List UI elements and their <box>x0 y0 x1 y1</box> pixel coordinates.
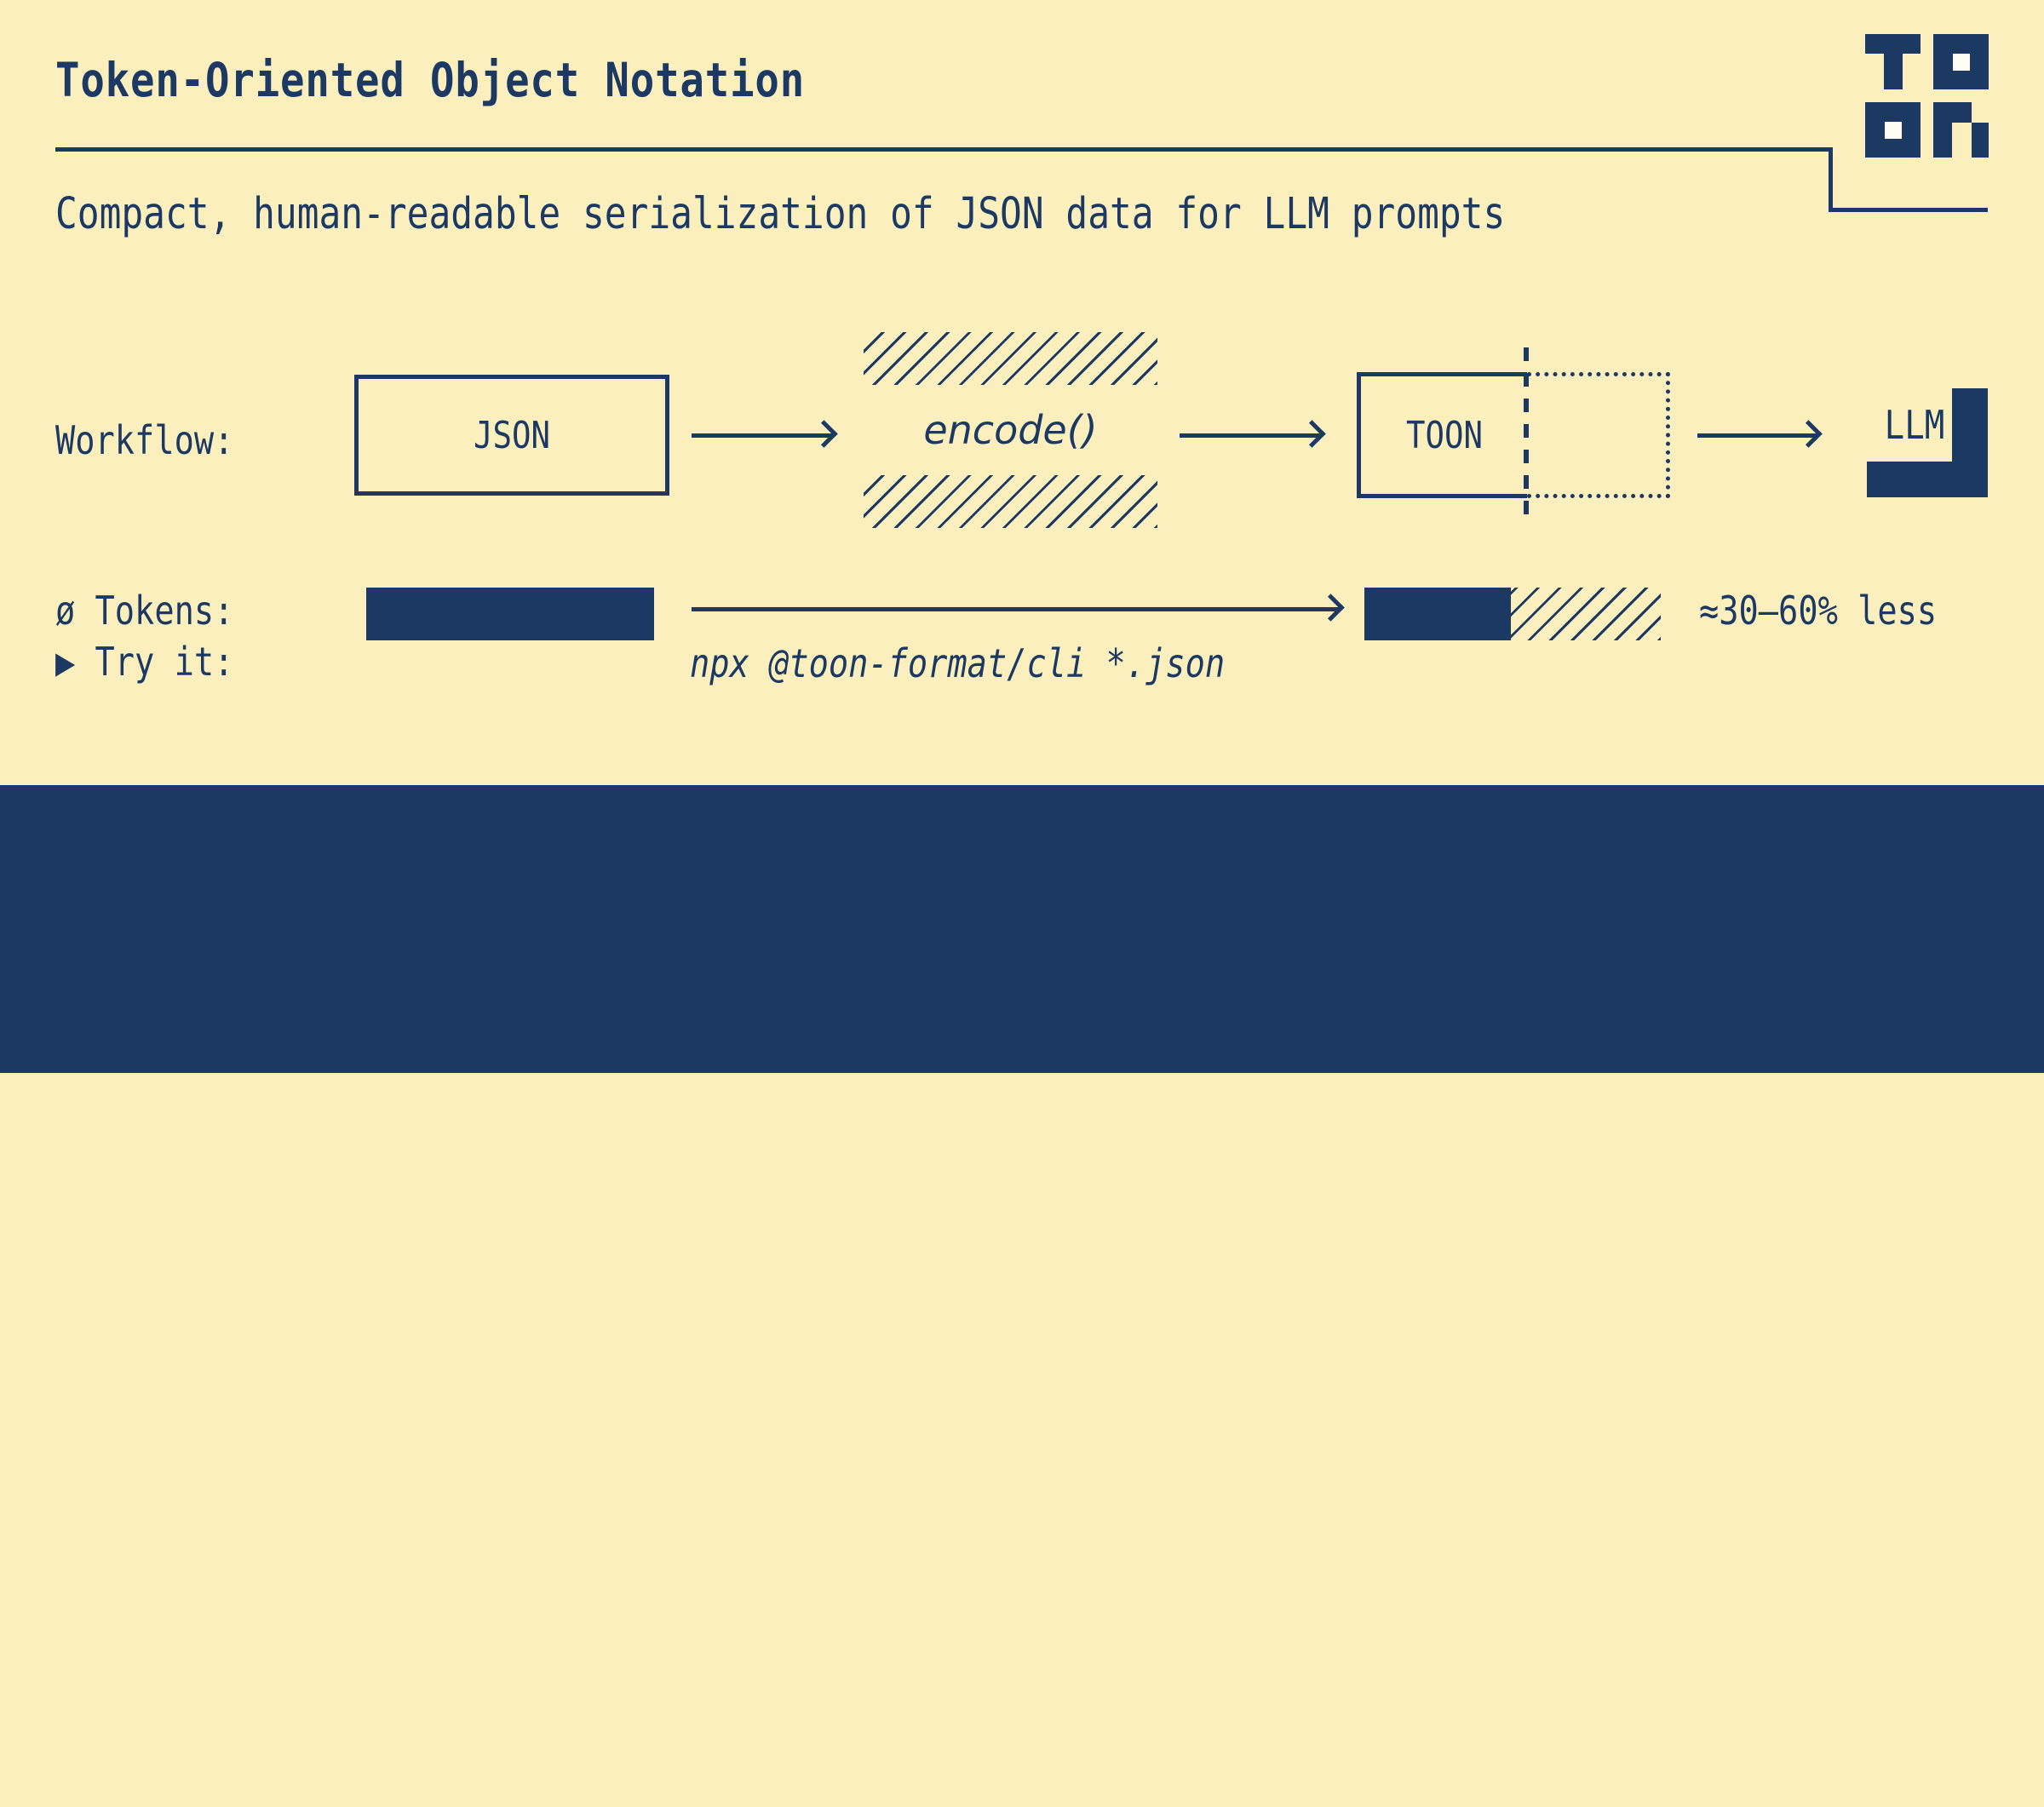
best-for-line-1: repeated structure • tables <box>1283 1679 1824 1725</box>
workflow-toon-label: TOON <box>1405 414 1482 457</box>
group-best-for: best for repeated structure • tables var… <box>1242 1638 1987 1807</box>
group-avg-tokens: avg tokens <box>328 1638 686 1807</box>
header-rule-horizontal <box>55 147 1833 152</box>
workflow-arrow-2-icon <box>1180 433 1320 438</box>
header-rule-vertical <box>1829 147 1833 212</box>
encode-hatch-bottom <box>864 475 1157 528</box>
footer-row-label-json: JSON <box>55 1747 132 1791</box>
accuracy-value-json: 69.7% <box>1009 1737 1110 1783</box>
tokens-label: ø Tokens: <box>55 588 233 634</box>
logo-glyph-o-icon <box>1933 34 1989 89</box>
group-avg-tokens-title: avg tokens <box>377 1609 571 1653</box>
avg-tokens-bar-json <box>366 1732 652 1793</box>
llm-corner-horizontal <box>1867 462 1988 497</box>
footer-row-arrow-json-icon: → <box>209 1749 229 1788</box>
workflow-encode-node: encode() <box>864 332 1157 528</box>
accuracy-arrow-json-icon <box>771 1739 967 1778</box>
avg-tokens-bar-toon <box>366 1679 652 1732</box>
avg-tokens-bar-toon-hatch <box>507 1679 652 1732</box>
group-retrieval-accuracy: retrieval accuracy 73.9% 69.7% <box>728 1638 1231 1807</box>
infographic-canvas: Token-Oriented Object Notation Compact, … <box>0 0 2044 1073</box>
workflow-llm-node: LLM <box>1867 388 1988 497</box>
workflow-arrow-1-icon <box>692 433 832 438</box>
install-command[interactable]: npx @toon-format/cli *.json <box>690 640 1225 686</box>
workflow-json-label: JSON <box>474 414 550 457</box>
logo-glyph-o2-icon <box>1865 102 1921 158</box>
best-for-line-2: varying fields • deep trees <box>1283 1737 1824 1783</box>
workflow-json-box: JSON <box>354 375 669 496</box>
group-retrieval-accuracy-title: retrieval accuracy <box>775 1609 1124 1653</box>
encode-hatch-top <box>864 332 1157 385</box>
workflow-arrow-3-icon <box>1697 433 1817 438</box>
footer-row-label-toon: TOON <box>55 1688 132 1731</box>
try-it-label: ▶ Try it: <box>55 639 233 685</box>
logo-glyph-n-icon <box>1933 102 1989 158</box>
tokens-json-bar <box>366 588 654 640</box>
tokens-toon-bar-fill <box>1364 588 1511 640</box>
avg-tokens-bar-toon-fill <box>366 1679 507 1732</box>
toon-logo <box>1865 34 1989 158</box>
workflow-llm-label: LLM <box>1874 392 1955 458</box>
group-best-for-title: best for <box>1289 1609 1444 1653</box>
accuracy-value-toon: 73.9% <box>1009 1679 1110 1725</box>
tokens-toon-bar-hatch <box>1511 588 1661 640</box>
logo-glyph-t-icon <box>1865 34 1921 89</box>
workflow-toon-box-ghost <box>1527 372 1670 498</box>
page-title: Token-Oriented Object Notation <box>55 53 805 107</box>
footer-panel: TOON JSON → → avg tokens retrieval accur… <box>0 785 2044 1073</box>
header-rule-horizontal-lower <box>1829 208 1988 212</box>
tokens-savings-label: ≈30–60% less <box>1699 588 1937 634</box>
workflow-label: Workflow: <box>55 417 233 463</box>
tokens-comparison-arrow-icon <box>692 607 1339 611</box>
tokens-toon-bar <box>1364 588 1661 640</box>
accuracy-arrow-toon-icon <box>771 1681 993 1720</box>
page-subtitle: Compact, human-readable serialization of… <box>55 189 1505 239</box>
workflow-toon-box: TOON <box>1357 372 1527 498</box>
workflow-toon-divider-icon <box>1524 347 1529 523</box>
footer-row-arrow-toon-icon: → <box>209 1689 229 1729</box>
workflow-encode-label: encode() <box>864 395 1157 465</box>
